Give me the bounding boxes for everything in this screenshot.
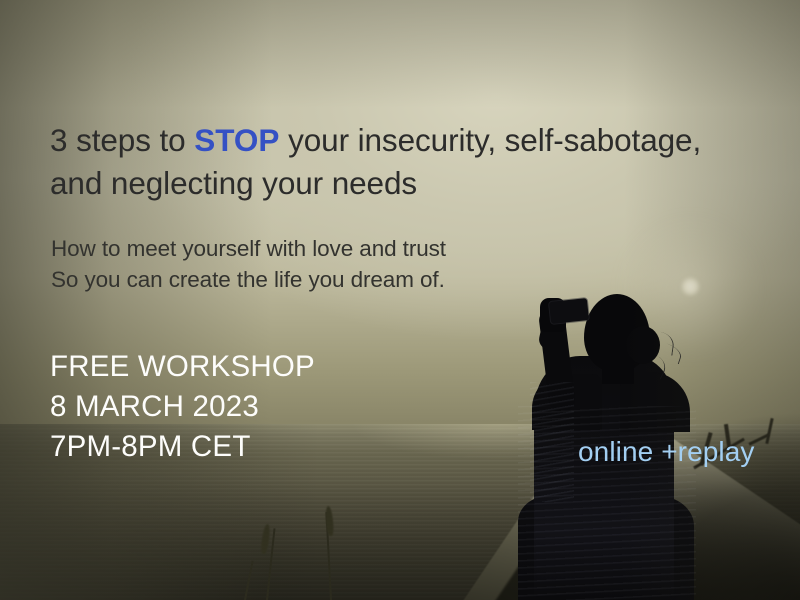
- headline: 3 steps to STOP your insecurity, self-sa…: [50, 119, 780, 205]
- event-date: 8 MARCH 2023: [50, 390, 259, 423]
- subheadline-line-1: How to meet yourself with love and trust: [51, 236, 446, 261]
- event-type: FREE WORKSHOP: [50, 350, 315, 383]
- online-replay-badge: online +replay: [578, 435, 755, 469]
- subheadline: How to meet yourself with love and trust…: [51, 233, 446, 295]
- event-details: FREE WORKSHOP 8 MARCH 2023 7PM-8PM CET: [50, 347, 315, 467]
- headline-emphasis: STOP: [194, 122, 279, 158]
- event-time: 7PM-8PM CET: [50, 430, 251, 463]
- subheadline-line-2: So you can create the life you dream of.: [51, 267, 445, 292]
- headline-before: 3 steps to: [50, 122, 194, 158]
- promo-poster: 3 steps to STOP your insecurity, self-sa…: [0, 0, 800, 600]
- right-vignette: [0, 0, 800, 600]
